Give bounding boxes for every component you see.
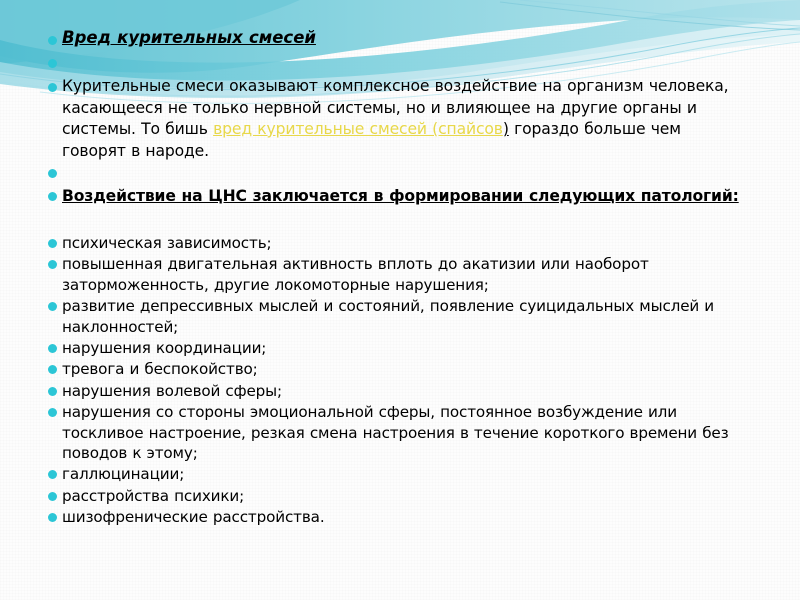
list-item-label: галлюцинации;: [62, 464, 748, 484]
bullet-icon: [48, 365, 57, 374]
list-item: повышенная двигательная активность вплот…: [48, 254, 748, 295]
smoking-mixtures-harm-link[interactable]: вред курительные смесей (спайсов: [213, 120, 503, 138]
list-item-label: шизофренические расстройства.: [62, 507, 748, 527]
bullet-icon: [48, 239, 57, 248]
intro-paragraph: Курительные смеси оказывают комплексное …: [62, 76, 748, 162]
list-item-label: повышенная двигательная активность вплот…: [62, 254, 748, 295]
list-item: психическая зависимость;: [48, 233, 748, 253]
section-heading: Воздействие на ЦНС заключается в формиро…: [62, 185, 748, 207]
bullet-icon: [48, 302, 57, 311]
bullet-icon: [48, 36, 57, 45]
bullet-icon: [48, 387, 57, 396]
list-item-label: тревога и беспокойство;: [62, 359, 748, 379]
list-item-label: психическая зависимость;: [62, 233, 748, 253]
list-item: шизофренические расстройства.: [48, 507, 748, 527]
bullet-icon: [48, 470, 57, 479]
list-item-label: нарушения со стороны эмоциональной сферы…: [62, 402, 748, 463]
slide-title-row: Вред курительных смесей: [48, 26, 748, 50]
list-item: нарушения со стороны эмоциональной сферы…: [48, 402, 748, 463]
slide-content: Вред курительных смесей Курительные смес…: [0, 0, 800, 600]
list-item-label: расстройства психики;: [62, 486, 748, 506]
bullet-icon: [48, 59, 57, 68]
empty-bullet-row-1: [48, 52, 748, 74]
list-item: нарушения координации;: [48, 338, 748, 358]
symptom-list: психическая зависимость; повышенная двиг…: [48, 233, 748, 528]
intro-paragraph-row: Курительные смеси оказывают комплексное …: [48, 76, 748, 162]
empty-bullet-row-2: [48, 162, 748, 184]
bullet-icon: [48, 169, 57, 178]
page-title: Вред курительных смесей: [62, 26, 748, 50]
list-item: тревога и беспокойство;: [48, 359, 748, 379]
list-item-label: развитие депрессивных мыслей и состояний…: [62, 296, 748, 337]
bullet-icon: [48, 260, 57, 269]
list-item-label: нарушения координации;: [62, 338, 748, 358]
presentation-slide: Вред курительных смесей Курительные смес…: [0, 0, 800, 600]
bullet-icon: [48, 83, 57, 92]
list-item: галлюцинации;: [48, 464, 748, 484]
bullet-icon: [48, 192, 57, 201]
bullet-icon: [48, 492, 57, 501]
bullet-icon: [48, 344, 57, 353]
list-item: расстройства психики;: [48, 486, 748, 506]
section-heading-row: Воздействие на ЦНС заключается в формиро…: [48, 185, 748, 207]
list-item: нарушения волевой сферы;: [48, 381, 748, 401]
list-item-label: нарушения волевой сферы;: [62, 381, 748, 401]
list-item: развитие депрессивных мыслей и состояний…: [48, 296, 748, 337]
bullet-icon: [48, 408, 57, 417]
bullet-icon: [48, 513, 57, 522]
